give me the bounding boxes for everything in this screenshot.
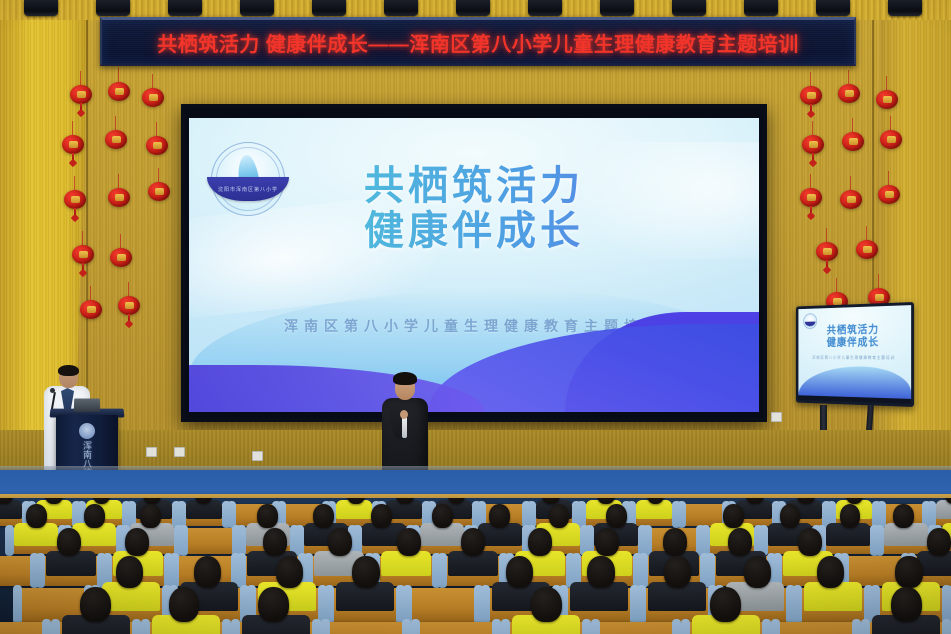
- lantern-decoration: [70, 85, 92, 104]
- lantern-cord: [74, 176, 75, 190]
- lantern-ball: [70, 85, 92, 104]
- ceiling-fixture: [816, 0, 850, 16]
- wall-outlet-2: [174, 447, 185, 457]
- audience-member-head: [194, 556, 221, 587]
- lantern-ball: [838, 84, 860, 103]
- lantern-cord: [158, 168, 159, 182]
- lantern-decoration: [816, 242, 838, 261]
- lantern-decoration: [62, 135, 84, 154]
- audience-member-head: [895, 556, 922, 587]
- lantern-ball: [110, 248, 132, 267]
- audience-member-head: [140, 504, 161, 528]
- auditorium-seat: [0, 622, 46, 634]
- audience-member-head: [728, 528, 752, 556]
- lantern-ball: [108, 188, 130, 207]
- audience-member-head: [26, 504, 47, 528]
- audience-member-head: [927, 528, 951, 556]
- side-monitor: 共栖筑活力 健康伴成长 浑南区第八小学儿童生理健康教育主题培训: [796, 302, 914, 407]
- lantern-ball: [800, 86, 822, 105]
- lantern-decoration: [80, 300, 102, 319]
- audience-member-head: [606, 504, 627, 528]
- lantern-decoration: [108, 82, 130, 101]
- main-projection-screen: 沈阳市浑南区第八小学 共栖筑活力 健康伴成长 浑南区第八小学儿童生理健康教育主题…: [181, 104, 767, 422]
- ceiling-fixture: [456, 0, 490, 16]
- audience-member-head: [595, 528, 619, 556]
- lantern-decoration: [142, 88, 164, 107]
- lantern-cord: [82, 231, 83, 245]
- ceiling-fixture: [528, 0, 562, 16]
- lantern-decoration: [110, 248, 132, 267]
- wall-outlet-3: [252, 451, 263, 461]
- auditorium-seat: [0, 556, 34, 586]
- slide-canvas: 沈阳市浑南区第八小学 共栖筑活力 健康伴成长 浑南区第八小学儿童生理健康教育主题…: [189, 118, 759, 412]
- lantern-ball: [816, 242, 838, 261]
- ceiling-fixture: [384, 0, 418, 16]
- audience-member-head: [744, 556, 771, 587]
- lantern-cord: [826, 228, 827, 242]
- monitor-screen: 共栖筑活力 健康伴成长 浑南区第八小学儿童生理健康教育主题培训: [798, 305, 911, 399]
- lantern-cord: [156, 122, 157, 136]
- lantern-ball: [72, 245, 94, 264]
- lantern-decoration: [840, 190, 862, 209]
- led-banner-text: 共栖筑活力 健康伴成长——浑南区第八小学儿童生理健康教育主题培训: [157, 28, 799, 57]
- audience-member-head: [798, 528, 822, 556]
- lantern-decoration: [108, 188, 130, 207]
- audience-member-head: [397, 528, 421, 556]
- lantern-cord: [886, 76, 887, 90]
- ceiling-fixture: [312, 0, 346, 16]
- laptop-on-podium: [74, 398, 100, 411]
- ceiling-fixture: [888, 0, 922, 16]
- lantern-ball: [800, 188, 822, 207]
- audience-member-head: [352, 556, 379, 587]
- slide-title-line1: 共栖筑活力: [189, 164, 759, 209]
- ceiling-fixture: [96, 0, 130, 16]
- lantern-decoration: [842, 132, 864, 151]
- audience-member-head: [169, 587, 199, 622]
- lantern-cord: [810, 174, 811, 188]
- lantern-cord: [866, 226, 867, 240]
- lantern-decoration: [876, 90, 898, 109]
- lantern-ball: [876, 90, 898, 109]
- audience-member-head: [461, 528, 485, 556]
- lantern-ball: [146, 136, 168, 155]
- audience-member-head: [432, 504, 453, 528]
- audience-member-head: [531, 587, 561, 622]
- lantern-ball: [842, 132, 864, 151]
- lantern-cord: [120, 234, 121, 248]
- lantern-ball: [802, 135, 824, 154]
- lantern-decoration: [148, 182, 170, 201]
- led-banner: 共栖筑活力 健康伴成长——浑南区第八小学儿童生理健康教育主题培训: [100, 17, 856, 66]
- audience-member-head: [587, 556, 614, 587]
- audience-member-head: [710, 587, 740, 622]
- ceiling-fixture: [240, 0, 274, 16]
- audience-member-head: [313, 504, 334, 528]
- lantern-cord: [152, 74, 153, 88]
- lantern-cord: [888, 171, 889, 185]
- audience-member-head: [723, 504, 744, 528]
- lantern-ball: [108, 82, 130, 101]
- audience-member-head: [116, 556, 143, 587]
- audience-member-head: [276, 556, 303, 587]
- audience-member-head: [257, 504, 278, 528]
- lantern-ball: [64, 190, 86, 209]
- lantern-decoration: [878, 185, 900, 204]
- lantern-cord: [836, 278, 837, 292]
- lantern-decoration: [72, 245, 94, 264]
- lantern-cord: [850, 176, 851, 190]
- ceiling-fixture: [744, 0, 778, 16]
- lantern-ball: [840, 190, 862, 209]
- lantern-cord: [118, 174, 119, 188]
- lantern-decoration: [105, 130, 127, 149]
- glasses-icon: [60, 374, 77, 379]
- ceiling-fixture: [600, 0, 634, 16]
- audience-member-head: [371, 504, 392, 528]
- lantern-decoration: [880, 130, 902, 149]
- audience-member-head: [328, 528, 352, 556]
- lower-wall-dado: [0, 430, 951, 470]
- audience-member-head: [84, 504, 105, 528]
- lantern-ball: [62, 135, 84, 154]
- wall-outlet-4: [771, 412, 782, 422]
- lantern-decoration: [146, 136, 168, 155]
- auditorium-seat: [184, 528, 236, 554]
- lantern-cord: [115, 116, 116, 130]
- audience-member-head: [80, 587, 110, 622]
- auditorium-seat: [776, 622, 856, 634]
- lantern-cord: [812, 121, 813, 135]
- lantern-cord: [80, 71, 81, 85]
- lantern-cord: [128, 282, 129, 296]
- audience-member-head: [663, 528, 687, 556]
- audience-member-head: [263, 528, 287, 556]
- auditorium-seat: [596, 622, 676, 634]
- lantern-decoration: [802, 135, 824, 154]
- audience-member-head: [817, 556, 844, 587]
- handheld-microphone-icon: [402, 416, 407, 438]
- audience-member-head: [893, 504, 914, 528]
- podium-emblem-icon: [79, 423, 95, 439]
- lantern-ball: [878, 185, 900, 204]
- wall-outlet-1: [146, 447, 157, 457]
- audience-member-head: [489, 504, 510, 528]
- lantern-decoration: [64, 190, 86, 209]
- audience-seating-area: [0, 498, 951, 634]
- lantern-ball: [880, 130, 902, 149]
- audience-member-head: [664, 556, 691, 587]
- lantern-ball: [118, 296, 140, 315]
- lantern-cord: [878, 274, 879, 288]
- lantern-decoration: [800, 86, 822, 105]
- auditorium-scene: 共栖筑活力 健康伴成长——浑南区第八小学儿童生理健康教育主题培训 沈阳市浑南区第…: [0, 0, 951, 634]
- slide-title: 共栖筑活力 健康伴成长: [189, 164, 759, 254]
- auditorium-seat: [416, 622, 496, 634]
- auditorium-seat: [408, 588, 478, 622]
- lantern-cord: [90, 286, 91, 300]
- audience-member-head: [840, 504, 861, 528]
- auditorium-seat: [326, 622, 406, 634]
- lantern-ball: [142, 88, 164, 107]
- audience-member-head: [528, 528, 552, 556]
- audience-member-head: [57, 528, 81, 556]
- ceiling-fixture: [672, 0, 706, 16]
- ceiling-fixture: [24, 0, 58, 16]
- audience-member-head: [549, 504, 570, 528]
- speaker-hair: [393, 372, 417, 385]
- audience-member-head: [258, 587, 288, 622]
- lantern-ball: [80, 300, 102, 319]
- slide-title-line2: 健康伴成长: [189, 209, 759, 254]
- lantern-ball: [856, 240, 878, 259]
- lantern-cord: [890, 116, 891, 130]
- audience-member-head: [506, 556, 533, 587]
- lantern-cord: [118, 68, 119, 82]
- lantern-ball: [105, 130, 127, 149]
- lantern-decoration: [118, 296, 140, 315]
- lantern-cord: [72, 121, 73, 135]
- lantern-decoration: [856, 240, 878, 259]
- lantern-decoration: [800, 188, 822, 207]
- lantern-cord: [852, 118, 853, 132]
- monitor-subtitle: 浑南区第八小学儿童生理健康教育主题培训: [798, 355, 911, 361]
- audience-member-head: [125, 528, 149, 556]
- monitor-wave: [798, 366, 911, 399]
- speaker-hand: [400, 410, 408, 419]
- monitor-title: 共栖筑活力 健康伴成长: [798, 323, 911, 349]
- podium-mic-head: [50, 388, 55, 393]
- audience-member-head: [780, 504, 801, 528]
- audience-member-head: [891, 587, 921, 622]
- lantern-cord: [848, 70, 849, 84]
- lantern-cord: [810, 72, 811, 86]
- lantern-ball: [148, 182, 170, 201]
- ceiling-fixture: [168, 0, 202, 16]
- monitor-title-line2: 健康伴成长: [798, 336, 911, 349]
- lantern-decoration: [838, 84, 860, 103]
